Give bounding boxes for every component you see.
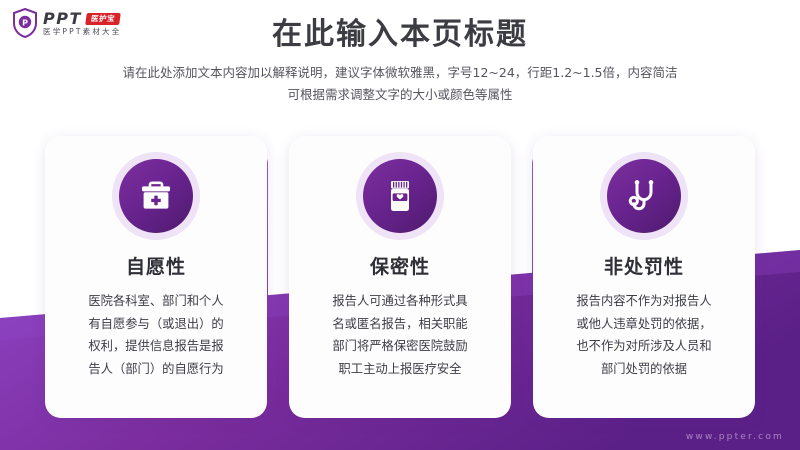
card-non-punitive[interactable]: 非处罚性 报告内容不作为对报告人 或他人违章处罚的依据， 也不作为对所涉及人员和… (533, 136, 755, 418)
card-body-line: 名或匿名报告，相关职能 (307, 313, 493, 336)
medical-kit-icon (138, 180, 174, 212)
pill-bottle-icon (384, 178, 416, 214)
icon-ring (356, 152, 444, 240)
card-body: 报告人可通过各种形式具 名或匿名报告，相关职能 部门将严格保密医院鼓励 职工主动… (307, 290, 493, 381)
card-confidential[interactable]: 保密性 报告人可通过各种形式具 名或匿名报告，相关职能 部门将严格保密医院鼓励 … (289, 136, 511, 418)
card-body-line: 职工主动上报医疗安全 (307, 358, 493, 381)
icon-badge (607, 159, 681, 233)
page-subtitle: 请在此处添加文本内容加以解释说明，建议字体微软雅黑，字号12~24，行距1.2~… (0, 62, 800, 106)
subtitle-line-1: 请在此处添加文本内容加以解释说明，建议字体微软雅黑，字号12~24，行距1.2~… (0, 62, 800, 84)
card-body: 报告内容不作为对报告人 或他人违章处罚的依据， 也不作为对所涉及人员和 部门处罚… (551, 290, 737, 381)
card-title: 自愿性 (126, 258, 186, 277)
card-title: 保密性 (370, 258, 430, 277)
card-body-line: 权利，提供信息报告是报 (63, 335, 249, 358)
card-voluntary[interactable]: 自愿性 医院各科室、部门和个人 有自愿参与（或退出）的 权利，提供信息报告是报 … (45, 136, 267, 418)
card-body-line: 医院各科室、部门和个人 (63, 290, 249, 313)
card-body-line: 也不作为对所涉及人员和 (551, 335, 737, 358)
slide-canvas: P PPT 医护宝 医学PPT素材大全 在此输入本页标题 请在此处添加文本内容加… (0, 0, 800, 450)
page-title: 在此输入本页标题 (0, 17, 800, 53)
card-body-line: 部门将严格保密医院鼓励 (307, 335, 493, 358)
subtitle-line-2: 可根据需求调整文字的大小或颜色等属性 (0, 84, 800, 106)
card-body-line: 部门处罚的依据 (551, 358, 737, 381)
card-body-line: 报告人可通过各种形式具 (307, 290, 493, 313)
card-body-line: 报告内容不作为对报告人 (551, 290, 737, 313)
stethoscope-icon (626, 178, 662, 214)
card-body-line: 或他人违章处罚的依据， (551, 313, 737, 336)
icon-ring (112, 152, 200, 240)
card-body-line: 有自愿参与（或退出）的 (63, 313, 249, 336)
icon-badge (363, 159, 437, 233)
card-row: 自愿性 医院各科室、部门和个人 有自愿参与（或退出）的 权利，提供信息报告是报 … (0, 136, 800, 418)
icon-badge (119, 159, 193, 233)
card-body-line: 告人（部门）的自愿行为 (63, 358, 249, 381)
footer-watermark: www.ppter.com (686, 433, 784, 442)
card-body: 医院各科室、部门和个人 有自愿参与（或退出）的 权利，提供信息报告是报 告人（部… (63, 290, 249, 381)
card-title: 非处罚性 (604, 258, 684, 277)
icon-ring (600, 152, 688, 240)
